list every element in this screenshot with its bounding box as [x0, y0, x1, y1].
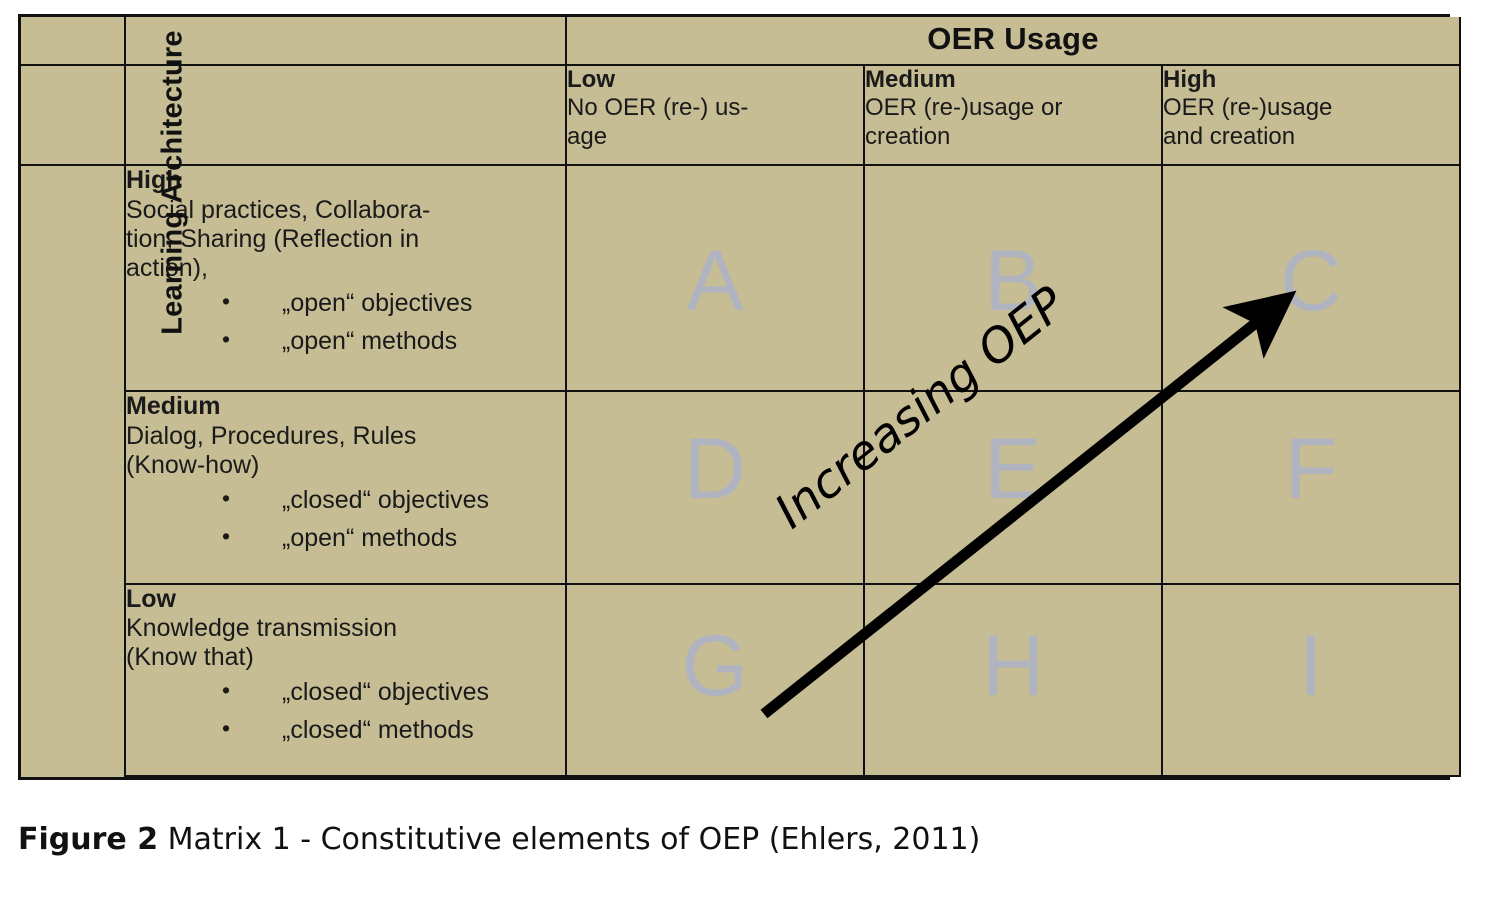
figure-caption-text: Matrix 1 - Constitutive elements of OEP …: [158, 822, 980, 857]
matrix-cell-label-I: I: [1163, 623, 1459, 709]
row-header-high-level: High: [126, 166, 565, 195]
corner-blank-rowdesc: [125, 17, 566, 65]
figure-container: OER Usage Low No OER (re-) us- age Mediu…: [0, 0, 1488, 904]
matrix-cell-label-A: A: [567, 238, 863, 324]
matrix-cell-label-H: H: [865, 623, 1161, 709]
matrix-grid: OER Usage Low No OER (re-) us- age Mediu…: [21, 17, 1461, 777]
corner-blank-rowdesc-2: [125, 65, 566, 165]
matrix-cell-label-F: F: [1163, 426, 1459, 512]
row-header-medium: Medium Dialog, Procedures, Rules (Know-h…: [125, 391, 566, 583]
matrix-cell-G: G: [566, 584, 864, 776]
matrix-cell-label-B: B: [865, 238, 1161, 324]
matrix-cell-label-D: D: [567, 426, 863, 512]
column-axis-title-cell: OER Usage: [566, 17, 1460, 65]
row-header-medium-description: Dialog, Procedures, Rules (Know-how): [126, 422, 565, 481]
matrix-cell-label-G: G: [567, 623, 863, 709]
matrix-cell-F: F: [1162, 391, 1460, 583]
row-header-low: Low Knowledge transmission (Know that) „…: [125, 584, 566, 776]
row-header-high-bullets: „open“ objectives „open“ methods: [126, 285, 565, 360]
matrix-cell-label-C: C: [1163, 238, 1459, 324]
matrix-cell-H: H: [864, 584, 1162, 776]
row-header-high: High Social practices, Collabora- tion, …: [125, 165, 566, 391]
oep-matrix-table: OER Usage Low No OER (re-) us- age Mediu…: [18, 14, 1450, 780]
list-item: „closed“ objectives: [222, 674, 565, 712]
list-item: „open“ methods: [222, 323, 565, 361]
column-header-high-level: High: [1163, 66, 1459, 94]
matrix-cell-label-E: E: [865, 426, 1161, 512]
matrix-cell-A: A: [566, 165, 864, 391]
matrix-cell-D: D: [566, 391, 864, 583]
corner-blank-axis-2: [21, 65, 125, 165]
column-header-low: Low No OER (re-) us- age: [566, 65, 864, 165]
matrix-row-low: Low Knowledge transmission (Know that) „…: [21, 584, 1460, 776]
row-header-medium-bullets: „closed“ objectives „open“ methods: [126, 482, 565, 557]
header-row-axis-title: OER Usage: [21, 17, 1460, 65]
list-item: „closed“ methods: [222, 712, 565, 750]
figure-number: Figure 2: [18, 822, 158, 857]
matrix-cell-C: C: [1162, 165, 1460, 391]
figure-caption: Figure 2 Matrix 1 - Constitutive element…: [18, 822, 980, 857]
corner-blank-axis: [21, 17, 125, 65]
matrix-cell-B: B: [864, 165, 1162, 391]
matrix-row-high: Learning Architecture High Social practi…: [21, 165, 1460, 391]
header-row-column-levels: Low No OER (re-) us- age Medium OER (re-…: [21, 65, 1460, 165]
row-header-low-level: Low: [126, 585, 565, 614]
list-item: „closed“ objectives: [222, 482, 565, 520]
matrix-cell-I: I: [1162, 584, 1460, 776]
matrix-row-medium: Medium Dialog, Procedures, Rules (Know-h…: [21, 391, 1460, 583]
row-header-low-bullets: „closed“ objectives „closed“ methods: [126, 674, 565, 749]
column-header-high: High OER (re-)usage and creation: [1162, 65, 1460, 165]
column-header-medium: Medium OER (re-)usage or creation: [864, 65, 1162, 165]
column-header-low-level: Low: [567, 66, 863, 94]
list-item: „open“ objectives: [222, 285, 565, 323]
row-header-low-description: Knowledge transmission (Know that): [126, 614, 565, 673]
row-axis-title-cell: Learning Architecture: [21, 165, 125, 776]
row-header-medium-level: Medium: [126, 392, 565, 421]
list-item: „open“ methods: [222, 520, 565, 558]
row-header-high-description: Social practices, Collabora- tion, Shari…: [126, 196, 565, 284]
row-axis-title: Learning Architecture: [157, 31, 190, 335]
column-header-medium-level: Medium: [865, 66, 1161, 94]
column-header-low-description: No OER (re-) us- age: [567, 94, 863, 151]
matrix-cell-E: E: [864, 391, 1162, 583]
column-header-high-description: OER (re-)usage and creation: [1163, 94, 1459, 151]
column-header-medium-description: OER (re-)usage or creation: [865, 94, 1161, 151]
column-axis-title: OER Usage: [567, 17, 1459, 61]
